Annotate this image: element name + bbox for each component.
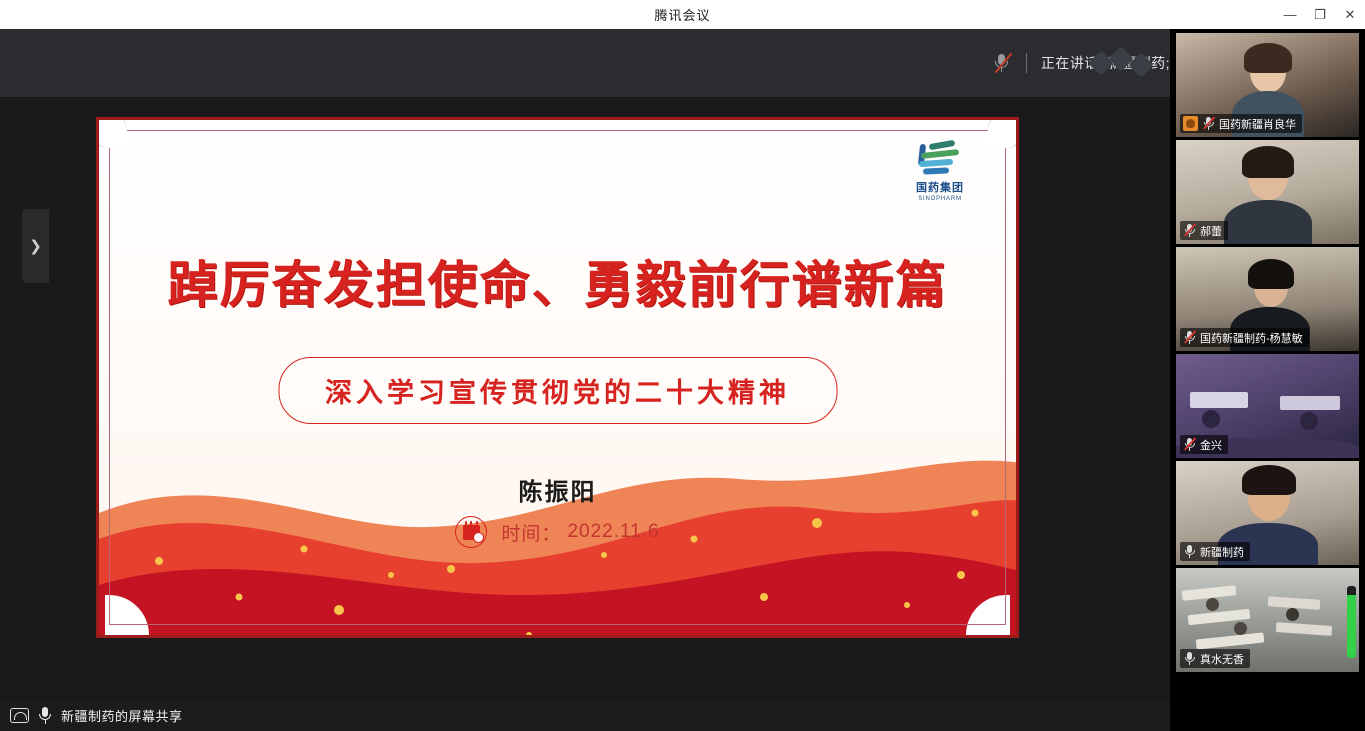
mic-on-icon bbox=[37, 706, 53, 725]
divider bbox=[1026, 53, 1027, 73]
participant-name: 真水无香 bbox=[1200, 651, 1244, 667]
participant-name: 金兴 bbox=[1200, 437, 1222, 453]
presentation-slide: 国药集团 SINOPHARM bbox=[96, 117, 1019, 638]
slide-dateline: 时间： 2022.11.6 bbox=[99, 516, 1016, 548]
mic-muted-icon bbox=[992, 52, 1012, 74]
participant-name: 国药新疆肖良华 bbox=[1219, 116, 1296, 132]
close-icon[interactable]: ✕ bbox=[1335, 0, 1365, 29]
participant-tile[interactable]: 金兴 bbox=[1176, 354, 1359, 458]
audio-level-meter bbox=[1347, 586, 1356, 658]
participant-rail: 国药新疆肖良华 郝蕾 bbox=[1170, 29, 1365, 731]
avatar bbox=[1183, 116, 1198, 131]
sinopharm-logo: 国药集团 SINOPHARM bbox=[904, 142, 976, 202]
minimize-icon[interactable]: — bbox=[1275, 0, 1305, 29]
restore-icon[interactable]: ❐ bbox=[1305, 0, 1335, 29]
participant-tile[interactable]: 真水无香 bbox=[1176, 568, 1359, 672]
mic-muted-icon bbox=[1202, 116, 1215, 131]
participant-badge: 新疆制药 bbox=[1180, 542, 1250, 561]
window-controls: — ❐ ✕ bbox=[1275, 0, 1365, 29]
sinopharm-mark-icon bbox=[915, 142, 965, 176]
stage-top-bar: 正在讲话: 新疆制药; bbox=[0, 29, 1170, 97]
calendar-clock-icon bbox=[455, 516, 487, 548]
participant-tile[interactable]: 新疆制药 bbox=[1176, 461, 1359, 565]
participant-badge: 国药新疆制药-杨慧敏 bbox=[1180, 328, 1309, 347]
slide-title: 踔厉奋发担使命、勇毅前行谱新篇 bbox=[99, 245, 1016, 317]
diamond-grip-icon[interactable] bbox=[1092, 50, 1154, 76]
screen-share-status-bar: 新疆制药的屏幕共享 bbox=[0, 700, 1170, 731]
screen-share-label: 新疆制药的屏幕共享 bbox=[61, 706, 183, 725]
participant-badge: 金兴 bbox=[1180, 435, 1228, 454]
window-title: 腾讯会议 bbox=[654, 5, 710, 24]
participant-name: 国药新疆制药-杨慧敏 bbox=[1200, 330, 1303, 346]
mic-muted-icon bbox=[1183, 437, 1196, 452]
screen-share-icon bbox=[10, 708, 29, 723]
title-bar: 腾讯会议 — ❐ ✕ bbox=[0, 0, 1365, 29]
sidebar-expand-button[interactable]: ❯ bbox=[22, 209, 49, 283]
mic-on-icon bbox=[1183, 651, 1196, 666]
participant-badge: 真水无香 bbox=[1180, 649, 1250, 668]
participant-tile[interactable]: 国药新疆肖良华 bbox=[1176, 33, 1359, 137]
participant-name: 新疆制药 bbox=[1200, 544, 1244, 560]
chevron-right-icon: ❯ bbox=[29, 237, 42, 255]
mic-on-icon bbox=[1183, 544, 1196, 559]
mic-muted-icon bbox=[1183, 223, 1196, 238]
slide-subtitle-pill: 深入学习宣传贯彻党的二十大精神 bbox=[278, 357, 837, 424]
slide-date-value: 2022.11.6 bbox=[567, 521, 659, 543]
logo-english-name: SINOPHARM bbox=[904, 196, 976, 202]
participant-tile[interactable]: 郝蕾 bbox=[1176, 140, 1359, 244]
shared-screen-stage: 正在讲话: 新疆制药; ❯ bbox=[0, 29, 1170, 731]
slide-subtitle: 深入学习宣传贯彻党的二十大精神 bbox=[325, 371, 790, 410]
participant-name: 郝蕾 bbox=[1200, 223, 1222, 239]
logo-chinese-name: 国药集团 bbox=[904, 179, 976, 195]
mic-muted-icon bbox=[1183, 330, 1196, 345]
participant-badge: 郝蕾 bbox=[1180, 221, 1228, 240]
slide-date-label: 时间： bbox=[501, 519, 561, 546]
tencent-meeting-window: 腾讯会议 — ❐ ✕ 正在讲话: 新疆制药; ❯ bbox=[0, 0, 1365, 731]
slide-presenter-name: 陈振阳 bbox=[99, 472, 1016, 507]
participant-tile[interactable]: 国药新疆制药-杨慧敏 bbox=[1176, 247, 1359, 351]
participant-badge: 国药新疆肖良华 bbox=[1180, 114, 1302, 133]
